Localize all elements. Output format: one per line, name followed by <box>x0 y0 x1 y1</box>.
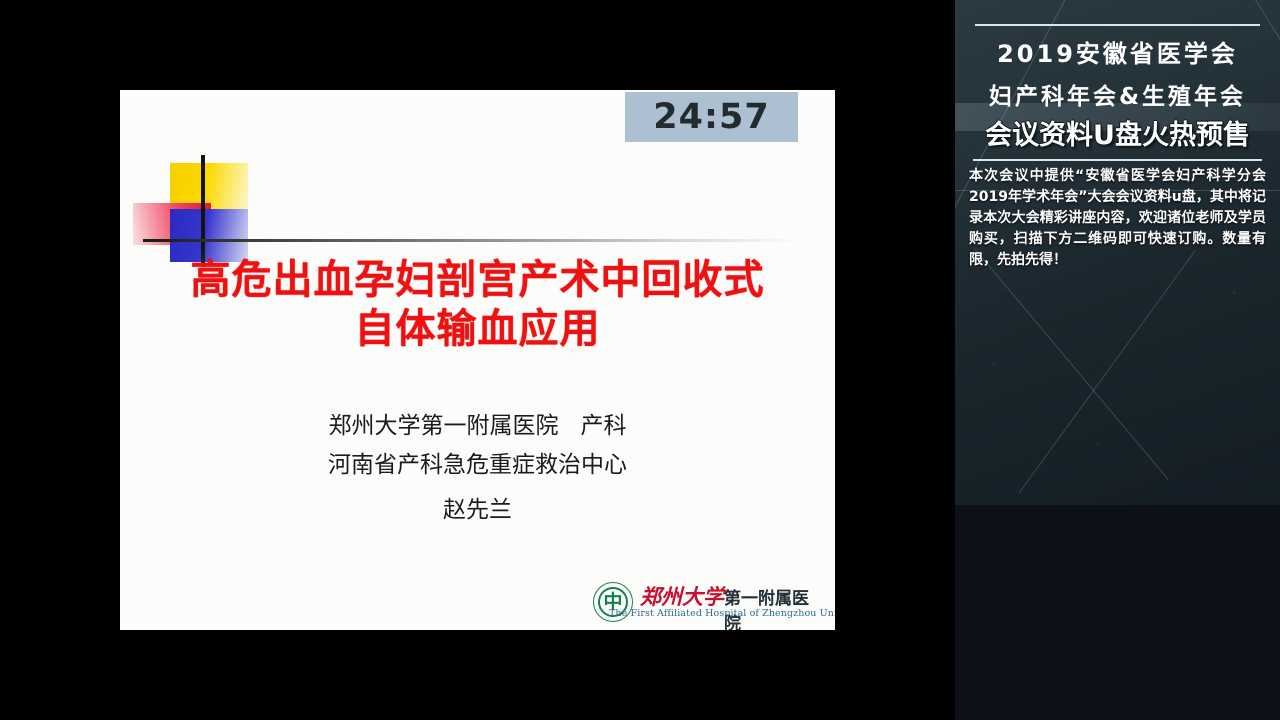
affiliation-department: 产科 <box>581 413 627 439</box>
slide-title-line2: 自体输血应用 <box>120 305 835 354</box>
decoration-vertical-line <box>201 155 205 267</box>
presentation-slide[interactable]: 高危出血孕妇剖宫产术中回收式 自体输血应用 郑州大学第一附属医院产科 河南省产科… <box>120 90 835 630</box>
slide-title: 高危出血孕妇剖宫产术中回收式 自体输血应用 <box>120 256 835 354</box>
affiliation-hospital: 郑州大学第一附属医院 <box>329 413 559 439</box>
logo-hospital-name: 第一附属医院 <box>724 584 823 630</box>
promo-rule-middle <box>973 159 1262 161</box>
presentation-viewer: 高危出血孕妇剖宫产术中回收式 自体输血应用 郑州大学第一附属医院产科 河南省产科… <box>0 0 1280 720</box>
timer-value: 24:57 <box>653 97 769 137</box>
promo-heading-1: 2019安徽省医学会 <box>955 34 1280 69</box>
decor-line-4 <box>1019 250 1196 493</box>
promo-description: 本次会议中提供“安徽省医学会妇产科学分会2019年学术年会”大会会议资料u盘，其… <box>969 166 1266 271</box>
decor-line-3 <box>975 249 1169 479</box>
promo-heading-3: 会议资料U盘火热预售 <box>955 113 1280 152</box>
logo-university-name: 郑州大学 <box>640 581 724 611</box>
decoration-horizontal-line <box>143 239 798 242</box>
promo-sidebar: 2019安徽省医学会 妇产科年会&生殖年会 会议资料U盘火热预售 本次会议中提供… <box>955 0 1280 720</box>
presenter-name: 赵先兰 <box>120 499 835 522</box>
affiliation-line-1: 郑州大学第一附属医院产科 <box>120 415 835 438</box>
affiliation-line-2: 河南省产科急危重症救治中心 <box>120 454 835 477</box>
slide-title-line1: 高危出血孕妇剖宫产术中回收式 <box>191 257 765 303</box>
promo-rule-top <box>975 24 1260 26</box>
hospital-logo: 中 郑州大学 第一附属医院 The First Affiliated Hospi… <box>593 580 823 630</box>
slide-affiliation-block: 郑州大学第一附属医院产科 河南省产科急危重症救治中心 赵先兰 <box>120 415 835 538</box>
promo-heading-2: 妇产科年会&生殖年会 <box>955 77 1280 111</box>
promo-banner: 2019安徽省医学会 妇产科年会&生殖年会 会议资料U盘火热预售 本次会议中提供… <box>955 0 1280 505</box>
logo-english-name: The First Affiliated Hospital of Zhengzh… <box>609 608 835 619</box>
slide-stage[interactable]: 高危出血孕妇剖宫产术中回收式 自体输血应用 郑州大学第一附属医院产科 河南省产科… <box>0 0 955 720</box>
mondrian-decoration <box>133 155 333 255</box>
decoration-square-blue <box>170 209 248 262</box>
countdown-timer: 24:57 <box>625 92 798 142</box>
